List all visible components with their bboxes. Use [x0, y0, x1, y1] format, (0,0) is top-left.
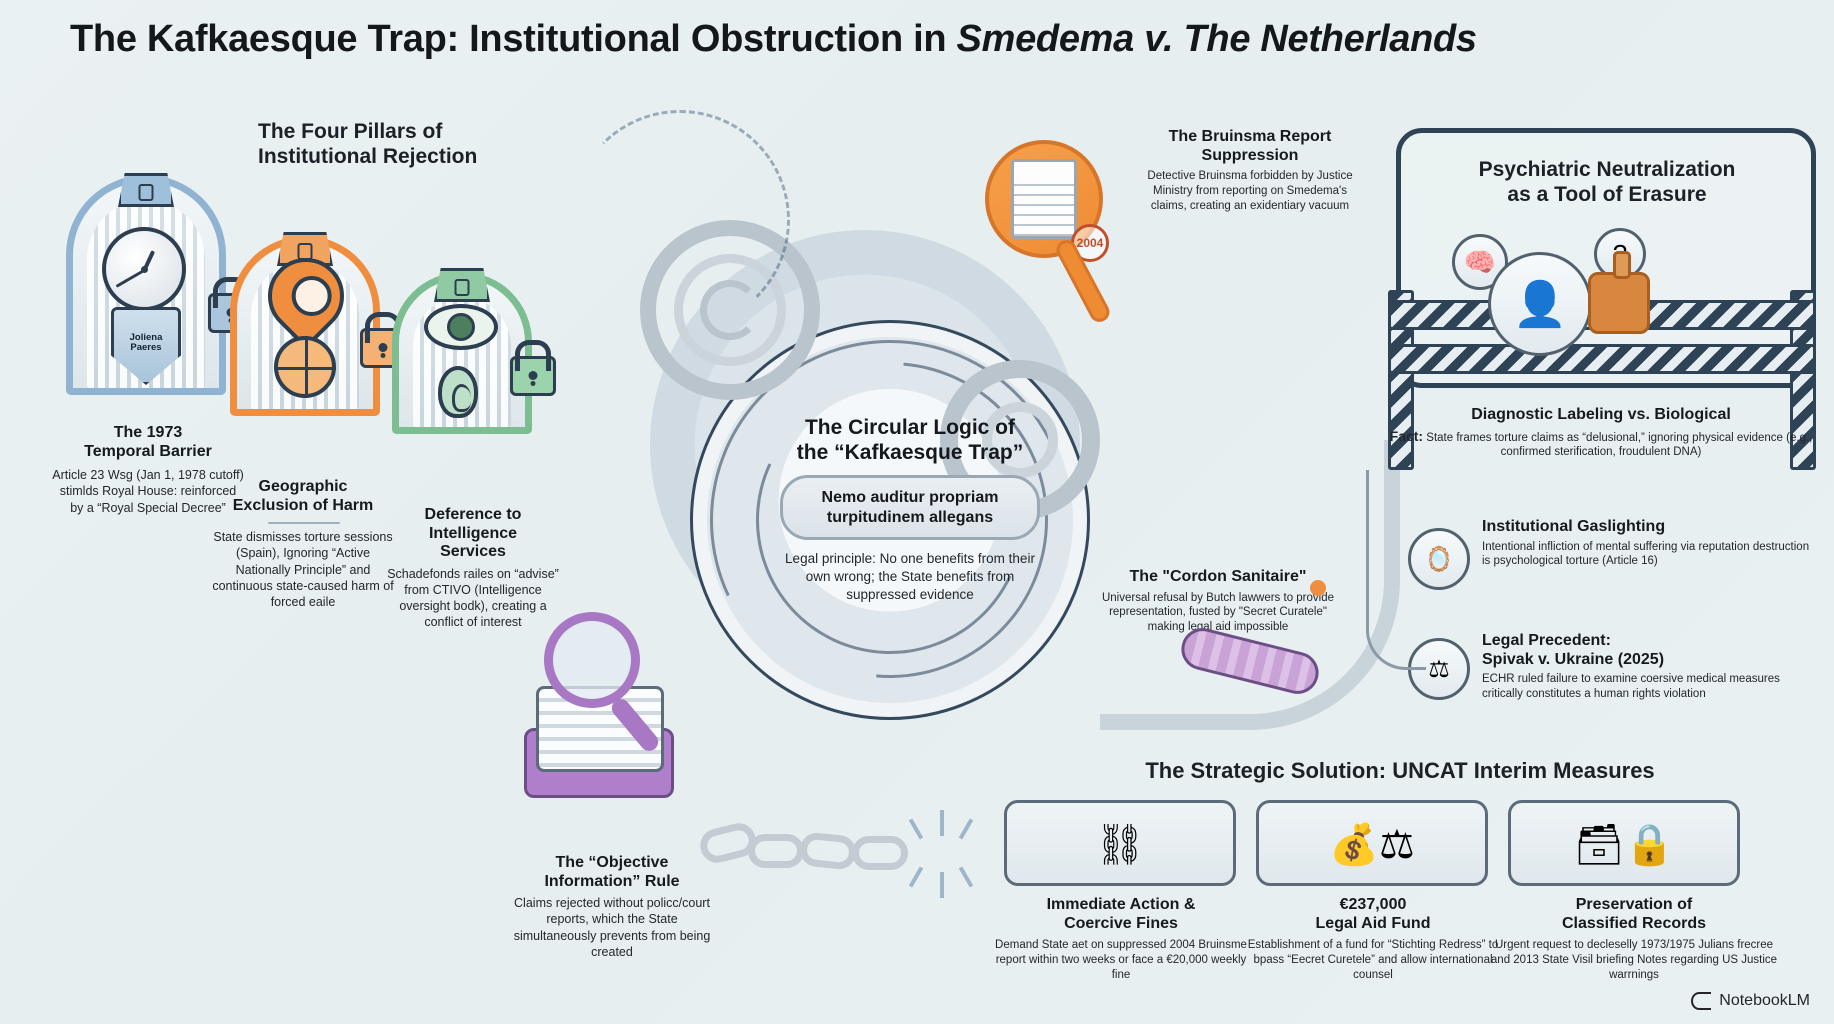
motion-arc	[570, 110, 790, 330]
solution-text-3: Preservation of Classified Records Urgen…	[1484, 896, 1784, 983]
diagnostic-block: Diagnostic Labeling vs. Biological Fact:…	[1386, 406, 1816, 460]
solution-card-2[interactable]: 💰⚖	[1256, 800, 1488, 886]
pipe-connector	[1100, 440, 1400, 730]
pillar-4-body: Claims rejected without policc/court rep…	[504, 895, 720, 960]
document-stamp-icon: 2004	[985, 140, 1115, 300]
hazard-bar-bottom	[1388, 344, 1816, 374]
bruinsma-body: Detective Bruinsma forbidden by Justice …	[1140, 169, 1360, 214]
circular-logic-card: The Circular Logic of the “Kafkaesque Tr…	[760, 415, 1060, 603]
watermark-label: NotebookLM	[1719, 992, 1810, 1010]
pillar-2-divider	[268, 522, 340, 524]
pillars-heading: The Four Pillars of Institutional Reject…	[258, 120, 558, 170]
locked-archive-box-icon: 🗃🔒	[1511, 821, 1737, 868]
psych-heading: Psychiatric Neutralization as a Tool of …	[1412, 158, 1802, 208]
right-connector	[1366, 470, 1426, 670]
solution-card-3-title: Preservation of Classified Records	[1484, 896, 1784, 933]
pillar-1-title: The 1973 Temporal Barrier	[52, 424, 244, 461]
psych-heading-line2: as a Tool of Erasure	[1412, 183, 1802, 208]
solution-card-1[interactable]: ⛓	[1004, 800, 1236, 886]
diagnostic-body: State frames torture claims as “delusion…	[1423, 432, 1812, 459]
shield-label: Joliena Paeres	[114, 333, 178, 353]
notebooklm-logo-icon	[1691, 992, 1711, 1010]
pillar-2: Geographic Exclusion of Harm State dismi…	[210, 478, 396, 610]
pillar-3-title: Deference to Intelligence Services	[384, 506, 562, 562]
psych-heading-line1: Psychiatric Neutralization	[1412, 158, 1802, 183]
solution-card-1-title: Immediate Action & Coercive Fines	[988, 896, 1254, 933]
bruinsma-block: The Bruinsma Report Suppression Detectiv…	[1140, 128, 1360, 214]
pillar-4-title: The “Objective Information” Rule	[504, 854, 720, 891]
page-title: The Kafkaesque Trap: Institutional Obstr…	[70, 18, 1770, 61]
person-icon: 👤	[1488, 252, 1592, 356]
pillar-2-body: State dismisses torture sessions (Spain)…	[210, 529, 396, 610]
bruinsma-title: The Bruinsma Report Suppression	[1140, 128, 1360, 165]
page-title-main: The Kafkaesque Trap: Institutional Obstr…	[70, 18, 957, 60]
money-scales-icon: 💰⚖	[1259, 821, 1485, 868]
infographic-canvas: The Kafkaesque Trap: Institutional Obstr…	[0, 0, 1834, 1024]
precedent-body: ECHR ruled failure to examine coersive m…	[1482, 672, 1822, 702]
eye-ear-lock-icon	[382, 262, 572, 442]
solution-heading: The Strategic Solution: UNCAT Interim Me…	[1000, 758, 1800, 784]
chain-illustration	[700, 800, 1040, 900]
pillars-heading-line2: Institutional Rejection	[258, 145, 558, 170]
diagnostic-lead: Fact:	[1390, 428, 1423, 444]
rubber-stamp-icon	[1588, 272, 1650, 334]
diagnostic-title: Diagnostic Labeling vs. Biological	[1386, 406, 1816, 425]
gaslighting-block: Institutional Gaslighting Intentional in…	[1482, 518, 1812, 569]
solution-card-2-body: Establishment of a fund for “Stichting R…	[1234, 938, 1512, 983]
gaslighting-title: Institutional Gaslighting	[1482, 518, 1812, 537]
page-title-italic: Smedema v. The Netherlands	[957, 18, 1477, 60]
notebooklm-watermark: NotebookLM	[1691, 992, 1810, 1010]
solution-card-1-body: Demand State aet on suppressed 2004 Brui…	[988, 938, 1254, 983]
precedent-block: Legal Precedent: Spivak v. Ukraine (2025…	[1482, 632, 1822, 702]
solution-text-1: Immediate Action & Coercive Fines Demand…	[988, 896, 1254, 983]
pillar-4: The “Objective Information” Rule Claims …	[504, 854, 720, 960]
solution-card-3[interactable]: 🗃🔒	[1508, 800, 1740, 886]
pillars-heading-line1: The Four Pillars of	[258, 120, 558, 145]
solution-card-3-body: Urgent request to decleselly 1973/1975 J…	[1484, 938, 1784, 983]
precedent-title: Legal Precedent: Spivak v. Ukraine (2025…	[1482, 632, 1822, 669]
pipe-node	[1310, 580, 1326, 596]
psych-icon-cluster: 🧠 ? 👤	[1452, 228, 1752, 348]
pillar-2-title: Geographic Exclusion of Harm	[210, 478, 396, 515]
solution-text-2: €237,000 Legal Aid Fund Establishment of…	[1234, 896, 1512, 983]
gaslighting-body: Intentional infliction of mental sufferi…	[1482, 540, 1812, 570]
broken-chain-icon: ⛓	[1007, 821, 1233, 868]
solution-card-2-title: €237,000 Legal Aid Fund	[1234, 896, 1512, 933]
pillar-3: Deference to Intelligence Services Schad…	[384, 506, 562, 631]
